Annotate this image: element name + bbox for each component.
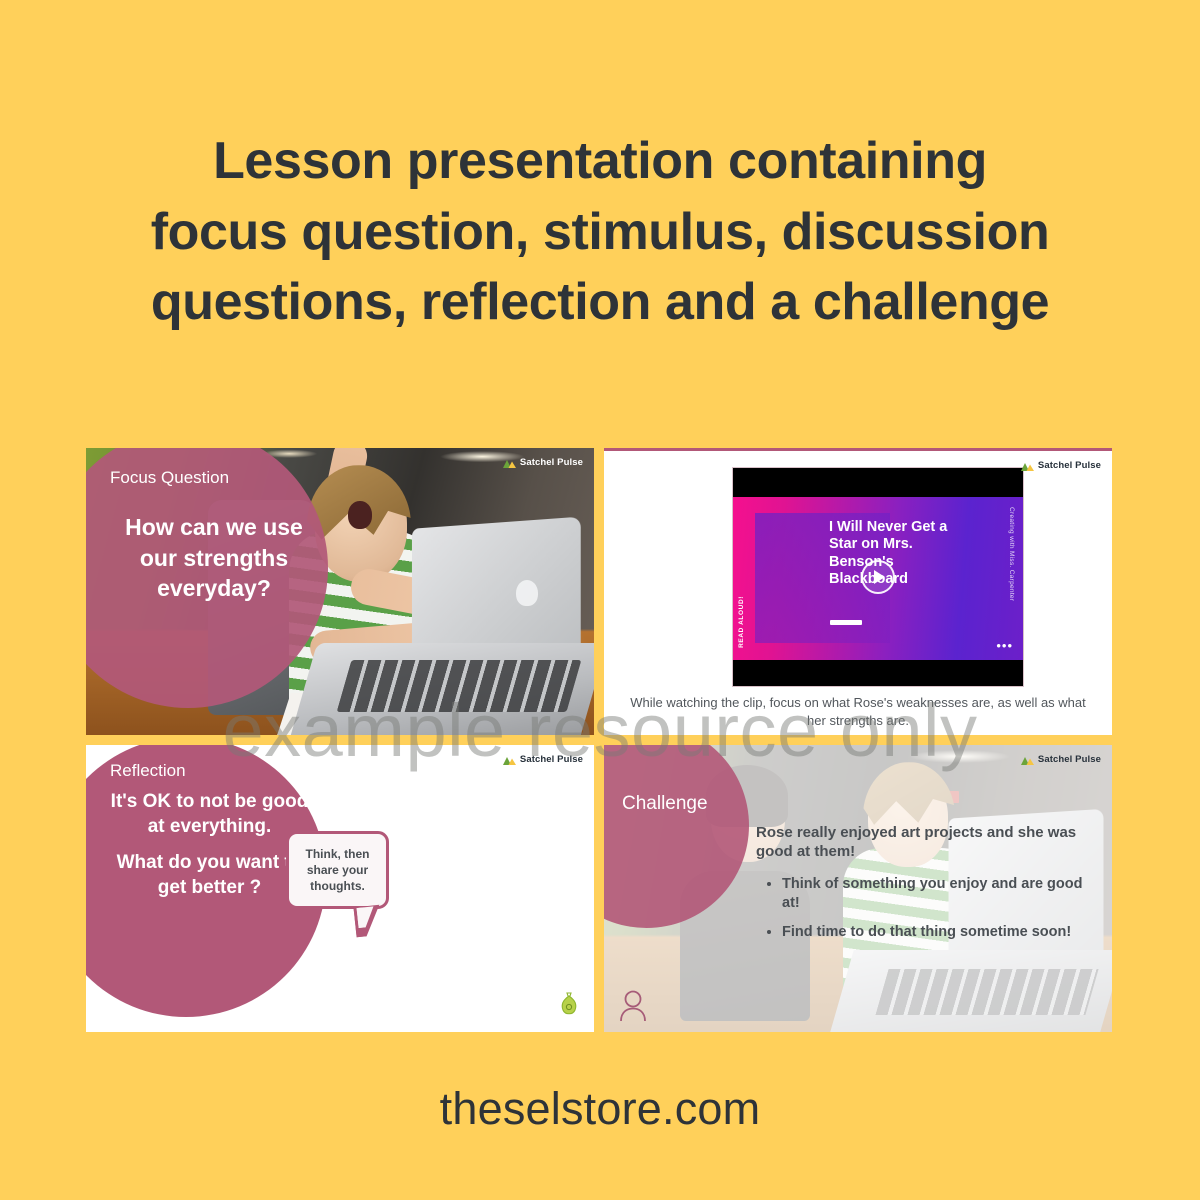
speech-bubble-text: Think, then share your thoughts. [289,846,386,895]
slide-focus-question[interactable]: Focus Question How can we use our streng… [86,448,594,735]
page-title-line-3: questions, reflection and a challenge [90,267,1110,338]
laptop-logo-decoration [516,580,538,606]
list-item: Think of something you enjoy and are goo… [782,875,1090,912]
video-title-underline [830,620,862,625]
challenge-body: Rose really enjoyed art projects and she… [756,823,1090,953]
brand-logo: Satchel Pulse [1021,460,1101,471]
brand-name: Satchel Pulse [1038,460,1101,471]
page-title: Lesson presentation containing focus que… [0,126,1200,338]
person-icon [618,989,648,1026]
challenge-lead: Rose really enjoyed art projects and she… [756,823,1090,861]
child-mouth-decoration [348,501,372,529]
list-item: Find time to do that thing sometime soon… [782,923,1090,942]
challenge-bullet-list: Think of something you enjoy and are goo… [756,875,1090,942]
reflection-kicker: Reflection [110,761,186,781]
mountain-logo-icon [503,458,516,468]
laptop-keyboard-decoration [336,660,581,712]
brand-logo: Satchel Pulse [1021,754,1101,765]
mountain-logo-icon [1021,461,1034,471]
challenge-kicker: Challenge [622,793,708,815]
slide-gallery: Focus Question How can we use our streng… [86,448,1112,1032]
slide-challenge[interactable]: Satchel Pulse Challenge Rose really enjo… [604,745,1112,1032]
reflection-question: What do you want to get better ? [102,850,317,900]
focus-question-kicker: Focus Question [110,468,229,488]
slide-stimulus[interactable]: Satchel Pulse READ ALOUD! Creating with … [604,448,1112,735]
mountain-logo-icon [1021,755,1034,765]
video-credit: Creating with Miss. Carpenter [1008,507,1015,601]
video-title: I Will Never Get a Star on Mrs. Benson's… [829,519,974,589]
focus-question-text: How can we use our strengths everyday? [114,512,314,604]
brand-logo: Satchel Pulse [503,754,583,765]
page-title-line-1: Lesson presentation containing [90,126,1110,197]
brand-name: Satchel Pulse [520,457,583,468]
play-icon[interactable] [861,560,895,594]
video-more-options-icon[interactable]: ••• [996,642,1013,650]
video-player[interactable]: READ ALOUD! Creating with Miss. Carpente… [732,467,1024,687]
stimulus-caption: While watching the clip, focus on what R… [630,694,1086,730]
brand-name: Satchel Pulse [520,754,583,765]
brand-name: Satchel Pulse [1038,754,1101,765]
slide-reflection[interactable]: Satchel Pulse Reflection It's OK to not … [86,745,594,1032]
footer-url: theselstore.com [0,1083,1200,1135]
reflection-statement: It's OK to not be good at everything. [102,789,317,839]
money-bag-icon [559,992,579,1021]
mountain-logo-icon [503,755,516,765]
page-title-line-2: focus question, stimulus, discussion [90,197,1110,268]
read-aloud-label: READ ALOUD! [738,596,745,648]
brand-logo: Satchel Pulse [503,457,583,468]
reflection-text: It's OK to not be good at everything. Wh… [102,789,317,900]
speech-bubble-tail [354,905,383,938]
speech-bubble: Think, then share your thoughts. [286,831,389,909]
